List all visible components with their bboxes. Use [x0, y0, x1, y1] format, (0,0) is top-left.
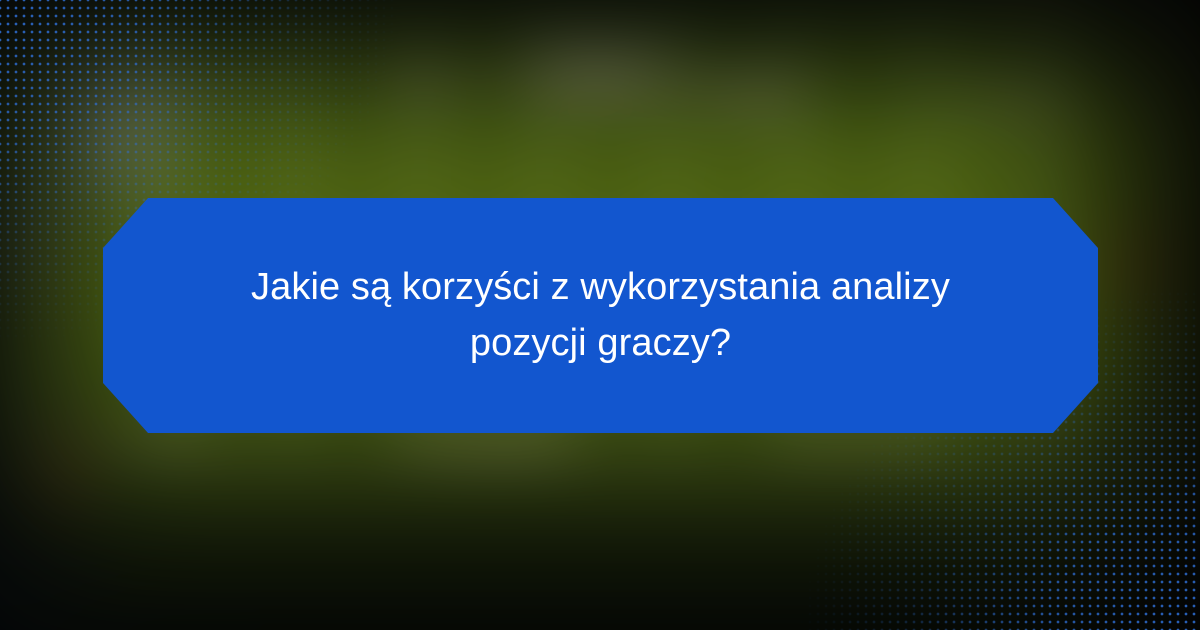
headline-title: Jakie są korzyści z wykorzystania analiz…: [251, 260, 951, 372]
og-card: Jakie są korzyści z wykorzystania analiz…: [0, 0, 1200, 630]
headline-plate: Jakie są korzyści z wykorzystania analiz…: [103, 198, 1098, 433]
